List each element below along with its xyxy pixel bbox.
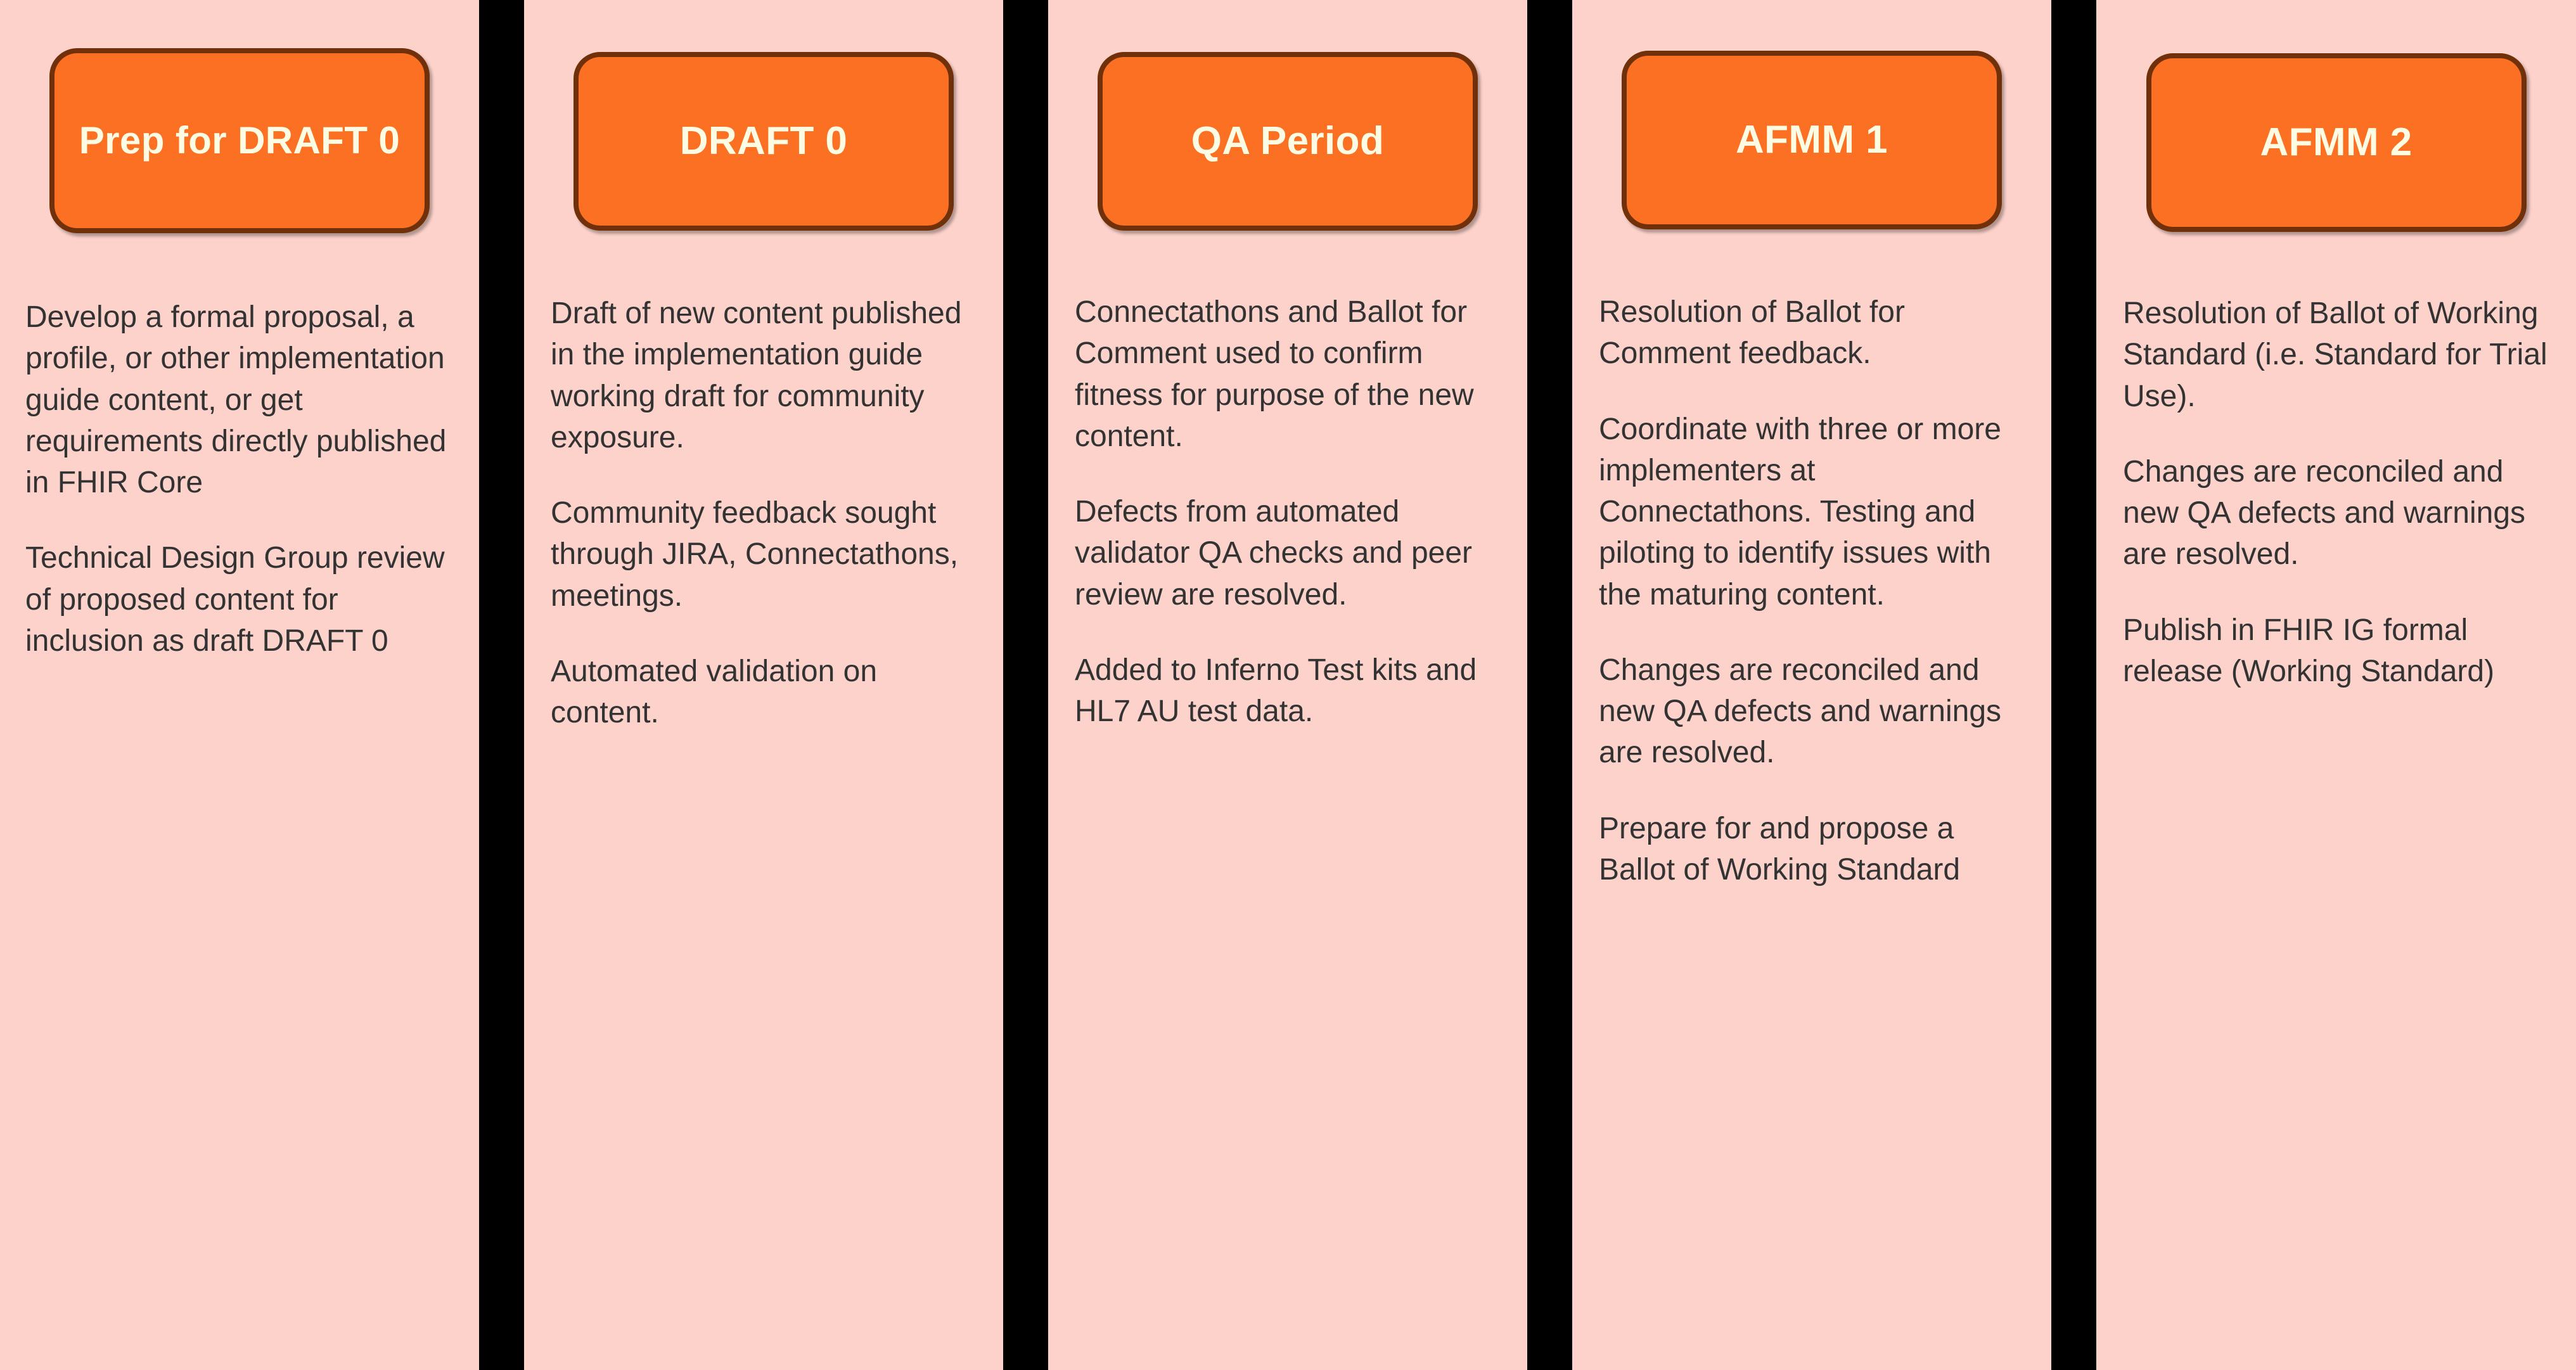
stage-paragraph: Resolution of Ballot of Working Standard… — [2123, 293, 2561, 417]
stage-body-qa-period: Connectathons and Ballot for Comment use… — [1048, 291, 1527, 732]
stage-column-afmm-2: AFMM 2 Resolution of Ballot of Working S… — [2096, 0, 2576, 1370]
stage-header-label: AFMM 2 — [2260, 123, 2412, 162]
stage-paragraph: Coordinate with three or more implemente… — [1599, 409, 2036, 615]
stage-header-label: Prep for DRAFT 0 — [79, 122, 400, 160]
stage-header-qa-period[interactable]: QA Period — [1098, 52, 1478, 231]
stage-paragraph: Defects from automated validator QA chec… — [1075, 491, 1511, 615]
stage-paragraph: Develop a formal proposal, a profile, or… — [25, 297, 464, 503]
stage-paragraph: Community feedback sought through JIRA, … — [551, 492, 984, 617]
stage-body-afmm-1: Resolution of Ballot for Comment feedbac… — [1572, 291, 2051, 890]
stage-header-prep-for-draft-0[interactable]: Prep for DRAFT 0 — [49, 48, 430, 233]
stage-paragraph: Resolution of Ballot for Comment feedbac… — [1599, 291, 2036, 375]
stage-body-afmm-2: Resolution of Ballot of Working Standard… — [2096, 293, 2576, 692]
stage-header-afmm-2[interactable]: AFMM 2 — [2146, 53, 2527, 232]
stage-body-prep-for-draft-0: Develop a formal proposal, a profile, or… — [0, 297, 479, 662]
stage-paragraph: Automated validation on content. — [551, 651, 984, 734]
stage-header-label: AFMM 1 — [1736, 120, 1888, 160]
stage-column-draft-0: DRAFT 0 Draft of new content published i… — [524, 0, 1003, 1370]
stage-header-afmm-1[interactable]: AFMM 1 — [1622, 51, 2002, 229]
stage-paragraph: Changes are reconciled and new QA defect… — [2123, 451, 2561, 575]
stage-paragraph: Technical Design Group review of propose… — [25, 537, 464, 662]
column-separator — [1003, 0, 1048, 1370]
stage-paragraph: Draft of new content published in the im… — [551, 293, 984, 458]
lifecycle-stage-board: Prep for DRAFT 0 Develop a formal propos… — [0, 0, 2576, 1370]
stage-paragraph: Prepare for and propose a Ballot of Work… — [1599, 808, 2036, 891]
column-separator — [479, 0, 524, 1370]
stage-paragraph: Publish in FHIR IG formal release (Worki… — [2123, 610, 2561, 693]
stage-header-label: DRAFT 0 — [680, 122, 848, 161]
stage-header-label: QA Period — [1191, 122, 1384, 161]
column-separator — [2051, 0, 2096, 1370]
stage-header-draft-0[interactable]: DRAFT 0 — [574, 52, 954, 231]
stage-body-draft-0: Draft of new content published in the im… — [524, 293, 1003, 733]
column-separator — [1527, 0, 1572, 1370]
stage-paragraph: Changes are reconciled and new QA defect… — [1599, 650, 2036, 774]
stage-column-afmm-1: AFMM 1 Resolution of Ballot for Comment … — [1572, 0, 2051, 1370]
stage-column-qa-period: QA Period Connectathons and Ballot for C… — [1048, 0, 1527, 1370]
stage-paragraph: Added to Inferno Test kits and HL7 AU te… — [1075, 650, 1511, 733]
stage-paragraph: Connectathons and Ballot for Comment use… — [1075, 291, 1511, 457]
stage-column-prep-for-draft-0: Prep for DRAFT 0 Develop a formal propos… — [0, 0, 479, 1370]
